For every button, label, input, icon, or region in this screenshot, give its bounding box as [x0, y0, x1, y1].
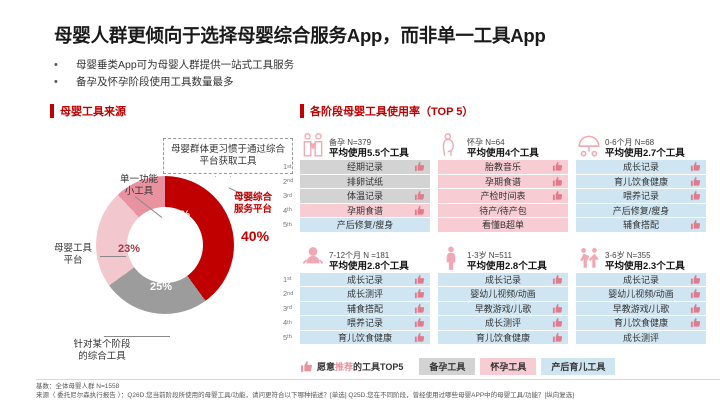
rank-label: 3rd	[283, 189, 292, 203]
rank-label: 1st	[283, 160, 291, 174]
list-item[interactable]: 婴幼儿视频/动画	[438, 287, 568, 301]
thumbs-up-icon	[414, 288, 425, 299]
donut-slice-label-40: 40%	[241, 228, 269, 244]
donut-label-tool-platform: 母婴工具 平台	[44, 243, 102, 267]
label-line-1: 母婴工具	[44, 243, 102, 255]
card-stage-and-n: 怀孕 N=64	[467, 138, 568, 148]
list-item[interactable]: 喂养记录	[576, 189, 706, 203]
card-stage-and-n: 3-6岁 N=355	[605, 251, 706, 261]
thumbs-up-icon	[552, 190, 563, 201]
tool-label: 成长测评	[623, 331, 659, 344]
card-stage-and-n: 备孕 N=379	[329, 138, 430, 148]
section-header-usage-rate: 各阶段母婴工具使用率（TOP 5）	[300, 103, 473, 119]
list-item[interactable]: 产检时间表	[438, 189, 568, 203]
card-tool-list: 1st经期记录2nd排卵试纸3rd体温记录4th孕期食谱5th产后修复/瘦身	[300, 160, 430, 232]
tool-label: 育儿饮食健康	[614, 175, 668, 188]
bullet-text: 母婴垂类App可为母婴人群提供一站式工具服务	[76, 58, 654, 73]
bullet-list: • 母婴垂类App可为母婴人群提供一站式工具服务 • 备孕及怀孕阶段使用工具数量…	[54, 58, 654, 92]
footer-divider	[36, 379, 720, 380]
card-tool-list: 成长记录婴幼儿视频/动画早教游戏/儿歌成长测评育儿饮食健康	[438, 273, 568, 345]
list-item[interactable]: 产后修复/瘦身	[576, 204, 706, 218]
section-title: 各阶段母婴工具使用率（TOP 5）	[310, 103, 473, 119]
card-header: 备孕 N=379平均使用5.5个工具	[300, 128, 430, 160]
card-stage-and-n: 1-3岁 N=511	[467, 251, 568, 261]
page-title: 母婴人群更倾向于选择母婴综合服务App，而非单一工具App	[54, 22, 674, 48]
thumbs-up-icon	[414, 205, 425, 216]
thumbs-up-icon	[690, 303, 701, 314]
card-header-text: 1-3岁 N=511平均使用2.8个工具	[467, 251, 568, 273]
leader-line-jieduan	[104, 336, 170, 337]
thumbs-up-icon	[552, 317, 563, 328]
toddler-icon	[438, 243, 464, 273]
couple-icon	[300, 130, 326, 160]
thumbs-up-icon	[690, 219, 701, 230]
stage-card-2: 0-6个月 N=68平均使用2.7个工具成长记录育儿饮食健康喂养记录产后修复/瘦…	[576, 128, 706, 233]
donut-slice-label-12: 12%	[168, 209, 190, 221]
legend-text-highlight: 推荐	[335, 362, 353, 372]
footer-base: 基数：全体母婴人群 N=1558	[36, 382, 720, 391]
tool-label: 成长测评	[485, 316, 521, 329]
tool-label: 经期记录	[347, 160, 383, 173]
card-stage-and-n: 0-6个月 N=68	[605, 138, 706, 148]
rank-label: 1st	[283, 273, 291, 287]
list-item[interactable]: 2nd排卵试纸	[300, 175, 430, 189]
thumbs-up-icon	[414, 303, 425, 314]
card-header: 怀孕 N=64平均使用4个工具	[438, 128, 568, 160]
slide-root: 母婴人群更倾向于选择母婴综合服务App，而非单一工具App • 母婴垂类App可…	[0, 0, 720, 405]
stage-card-3: 7-12个月 N =181平均使用2.8个工具1st成长记录2nd成长测评3rd…	[300, 241, 430, 346]
list-item[interactable]: 3rd体温记录	[300, 189, 430, 203]
card-header: 7-12个月 N =181平均使用2.8个工具	[300, 241, 430, 273]
donut-label-stage-tool: 针对某个阶段 的综合工具	[56, 339, 148, 363]
list-item[interactable]: 早教游戏/儿歌	[576, 302, 706, 316]
stage-cards-grid: 备孕 N=379平均使用5.5个工具1st经期记录2nd排卵试纸3rd体温记录4…	[300, 128, 706, 353]
tool-label: 成长记录	[623, 273, 659, 286]
tool-label: 体温记录	[347, 189, 383, 202]
list-item[interactable]: 看懂B超单	[438, 218, 568, 232]
donut-slice-label-23: 23%	[118, 243, 140, 255]
list-item[interactable]: 胎教音乐	[438, 160, 568, 174]
card-average-tools: 平均使用2.3个工具	[605, 261, 706, 272]
tool-label: 喂养记录	[623, 189, 659, 202]
tool-label: 成长记录	[485, 273, 521, 286]
thumbs-up-icon	[552, 176, 563, 187]
list-item[interactable]: 1st成长记录	[300, 273, 430, 287]
label-line-2: 的综合工具	[56, 351, 148, 363]
thumbs-up-icon	[690, 274, 701, 285]
card-tool-list: 1st成长记录2nd成长测评3rd辅食搭配4th喂养记录5th育儿饮食健康	[300, 273, 430, 345]
stage-card-5: 3-6岁 N=355平均使用2.3个工具成长记录婴幼儿视频/动画早教游戏/儿歌育…	[576, 241, 706, 346]
card-header-text: 0-6个月 N=68平均使用2.7个工具	[605, 138, 706, 160]
list-item: • 备孕及怀孕阶段使用工具数量最多	[54, 75, 654, 90]
card-stage-and-n: 7-12个月 N =181	[329, 251, 430, 261]
list-item[interactable]: 1st经期记录	[300, 160, 430, 174]
tool-label: 婴幼儿视频/动画	[470, 287, 536, 300]
list-item[interactable]: 成长测评	[438, 316, 568, 330]
card-row: 备孕 N=379平均使用5.5个工具1st经期记录2nd排卵试纸3rd体温记录4…	[300, 128, 706, 233]
footer: 基数：全体母婴人群 N=1558 来源（ 委托尼尔森执行报告 ）：Q26D.您当…	[36, 379, 720, 400]
card-tool-list: 成长记录婴幼儿视频/动画早教游戏/儿歌育儿饮食健康成长测评	[576, 273, 706, 345]
rank-label: 2nd	[283, 175, 293, 189]
tool-label: 辅食搭配	[623, 218, 659, 231]
card-header: 3-6岁 N=355平均使用2.3个工具	[576, 241, 706, 273]
baby-icon	[300, 243, 326, 273]
footer-source: 来源（ 委托尼尔森执行报告 ）：Q26D.您当前阶段所使用的母婴工具/功能，请问…	[36, 391, 720, 400]
card-average-tools: 平均使用2.7个工具	[605, 148, 706, 159]
card-average-tools: 平均使用4个工具	[467, 148, 568, 159]
tool-label: 产后修复/瘦身	[337, 218, 394, 231]
legend-chip-huaiyun: 怀孕工具	[480, 358, 536, 375]
legend-recommend-label: 愿意推荐的工具TOP5	[317, 360, 403, 373]
rank-label: 5th	[283, 218, 292, 232]
list-item[interactable]: 待产/待产包	[438, 204, 568, 218]
section-accent-bar	[50, 104, 54, 118]
rank-label: 3rd	[283, 302, 292, 316]
thumbs-up-icon	[414, 161, 425, 172]
thumbs-up-icon	[414, 190, 425, 201]
rank-label: 4th	[283, 316, 292, 330]
stage-card-1: 怀孕 N=64平均使用4个工具胎教音乐孕期食谱产检时间表待产/待产包看懂B超单	[438, 128, 568, 233]
bullet-marker: •	[54, 58, 76, 73]
legend-chip-chanhou: 产后育儿工具	[541, 358, 615, 375]
list-item[interactable]: 4th喂养记录	[300, 316, 430, 330]
tool-label: 产后修复/瘦身	[613, 204, 670, 217]
card-header-text: 7-12个月 N =181平均使用2.8个工具	[329, 251, 430, 273]
label-line-2: 平台	[44, 255, 102, 267]
donut-slice-label-25: 25%	[150, 281, 172, 293]
donut-label-single-function-tool: 单一功能 小工具	[104, 174, 174, 198]
tool-label: 早教游戏/儿歌	[613, 302, 670, 315]
rank-label: 4th	[283, 204, 292, 218]
section-accent-bar	[300, 104, 304, 118]
card-tool-list: 成长记录育儿饮食健康喂养记录产后修复/瘦身辅食搭配	[576, 160, 706, 232]
card-average-tools: 平均使用2.8个工具	[329, 261, 430, 272]
tool-label: 成长测评	[347, 287, 383, 300]
children-playing-icon	[576, 243, 602, 273]
stroller-icon	[576, 130, 602, 160]
tool-label: 辅食搭配	[347, 302, 383, 315]
list-item[interactable]: 早教游戏/儿歌	[438, 302, 568, 316]
card-row: 7-12个月 N =181平均使用2.8个工具1st成长记录2nd成长测评3rd…	[300, 241, 706, 346]
callout-box: 母婴群体更习惯于通过综合平台获取工具	[163, 138, 293, 174]
thumbs-up-icon	[690, 161, 701, 172]
pregnant-woman-icon	[438, 130, 464, 160]
tool-label: 成长记录	[347, 273, 383, 286]
list-item[interactable]: 3rd辅食搭配	[300, 302, 430, 316]
list-item[interactable]: 成长记录	[576, 273, 706, 287]
card-tool-list: 胎教音乐孕期食谱产检时间表待产/待产包看懂B超单	[438, 160, 568, 232]
tool-label: 早教游戏/儿歌	[475, 302, 532, 315]
list-item[interactable]: 5th育儿饮食健康	[300, 331, 430, 345]
label-line-2: 小工具	[104, 186, 174, 198]
thumbs-up-icon	[414, 317, 425, 328]
thumbs-up-icon	[690, 190, 701, 201]
tool-label: 看懂B超单	[482, 218, 524, 231]
tool-label: 育儿饮食健康	[476, 331, 530, 344]
list-item[interactable]: 成长记录	[438, 273, 568, 287]
list-item[interactable]: 婴幼儿视频/动画	[576, 287, 706, 301]
rank-label: 5th	[283, 331, 292, 345]
tool-label: 喂养记录	[347, 316, 383, 329]
legend-text-suffix: 的工具TOP5	[353, 362, 403, 372]
card-header: 1-3岁 N=511平均使用2.8个工具	[438, 241, 568, 273]
tool-label: 孕期食谱	[347, 204, 383, 217]
tool-label: 排卵试纸	[347, 175, 383, 188]
rank-label: 2nd	[283, 287, 293, 301]
list-item[interactable]: 5th产后修复/瘦身	[300, 218, 430, 232]
list-item: • 母婴垂类App可为母婴人群提供一站式工具服务	[54, 58, 654, 73]
tool-label: 育儿饮食健康	[338, 331, 392, 344]
thumbs-up-icon	[690, 317, 701, 328]
tool-label: 育儿饮食健康	[614, 316, 668, 329]
card-average-tools: 平均使用5.5个工具	[329, 148, 430, 159]
stage-card-4: 1-3岁 N=511平均使用2.8个工具成长记录婴幼儿视频/动画早教游戏/儿歌成…	[438, 241, 568, 346]
section-title: 母婴工具来源	[60, 103, 126, 119]
thumbs-up-icon	[690, 176, 701, 187]
tool-label: 产检时间表	[480, 189, 525, 202]
list-item[interactable]: 辅食搭配	[576, 218, 706, 232]
legend-chip-beiyun: 备孕工具	[419, 358, 475, 375]
card-header-text: 备孕 N=379平均使用5.5个工具	[329, 138, 430, 160]
bullet-text: 备孕及怀孕阶段使用工具数量最多	[76, 75, 654, 90]
stage-card-0: 备孕 N=379平均使用5.5个工具1st经期记录2nd排卵试纸3rd体温记录4…	[300, 128, 430, 233]
list-item[interactable]: 4th孕期食谱	[300, 204, 430, 218]
legend-text-prefix: 愿意	[317, 362, 335, 372]
bullet-marker: •	[54, 75, 76, 90]
label-line-1: 针对某个阶段	[56, 339, 148, 351]
card-average-tools: 平均使用2.8个工具	[467, 261, 568, 272]
thumbs-up-icon	[300, 360, 313, 373]
list-item[interactable]: 成长记录	[576, 160, 706, 174]
thumbs-up-icon	[690, 288, 701, 299]
thumbs-up-icon	[552, 274, 563, 285]
leader-line-pingtai	[100, 256, 126, 257]
list-item[interactable]: 育儿饮食健康	[438, 331, 568, 345]
card-header-text: 3-6岁 N=355平均使用2.3个工具	[605, 251, 706, 273]
tool-label: 孕期食谱	[485, 175, 521, 188]
list-item[interactable]: 孕期食谱	[438, 175, 568, 189]
tool-label: 成长记录	[623, 160, 659, 173]
thumbs-up-icon	[414, 332, 425, 343]
list-item[interactable]: 成长测评	[576, 331, 706, 345]
section-header-tool-source: 母婴工具来源	[50, 103, 126, 119]
tool-label: 待产/待产包	[479, 204, 527, 217]
list-item[interactable]: 2nd成长测评	[300, 287, 430, 301]
card-header: 0-6个月 N=68平均使用2.7个工具	[576, 128, 706, 160]
list-item[interactable]: 育儿饮食健康	[576, 175, 706, 189]
tool-label: 婴幼儿视频/动画	[608, 287, 674, 300]
thumbs-up-icon	[552, 303, 563, 314]
label-line-1: 单一功能	[104, 174, 174, 186]
thumbs-up-icon	[552, 161, 563, 172]
card-header-text: 怀孕 N=64平均使用4个工具	[467, 138, 568, 160]
thumbs-up-icon	[414, 274, 425, 285]
legend: 愿意推荐的工具TOP5 备孕工具 怀孕工具 产后育儿工具	[300, 358, 620, 375]
thumbs-up-icon	[552, 332, 563, 343]
tool-label: 胎教音乐	[485, 160, 521, 173]
list-item[interactable]: 育儿饮食健康	[576, 316, 706, 330]
